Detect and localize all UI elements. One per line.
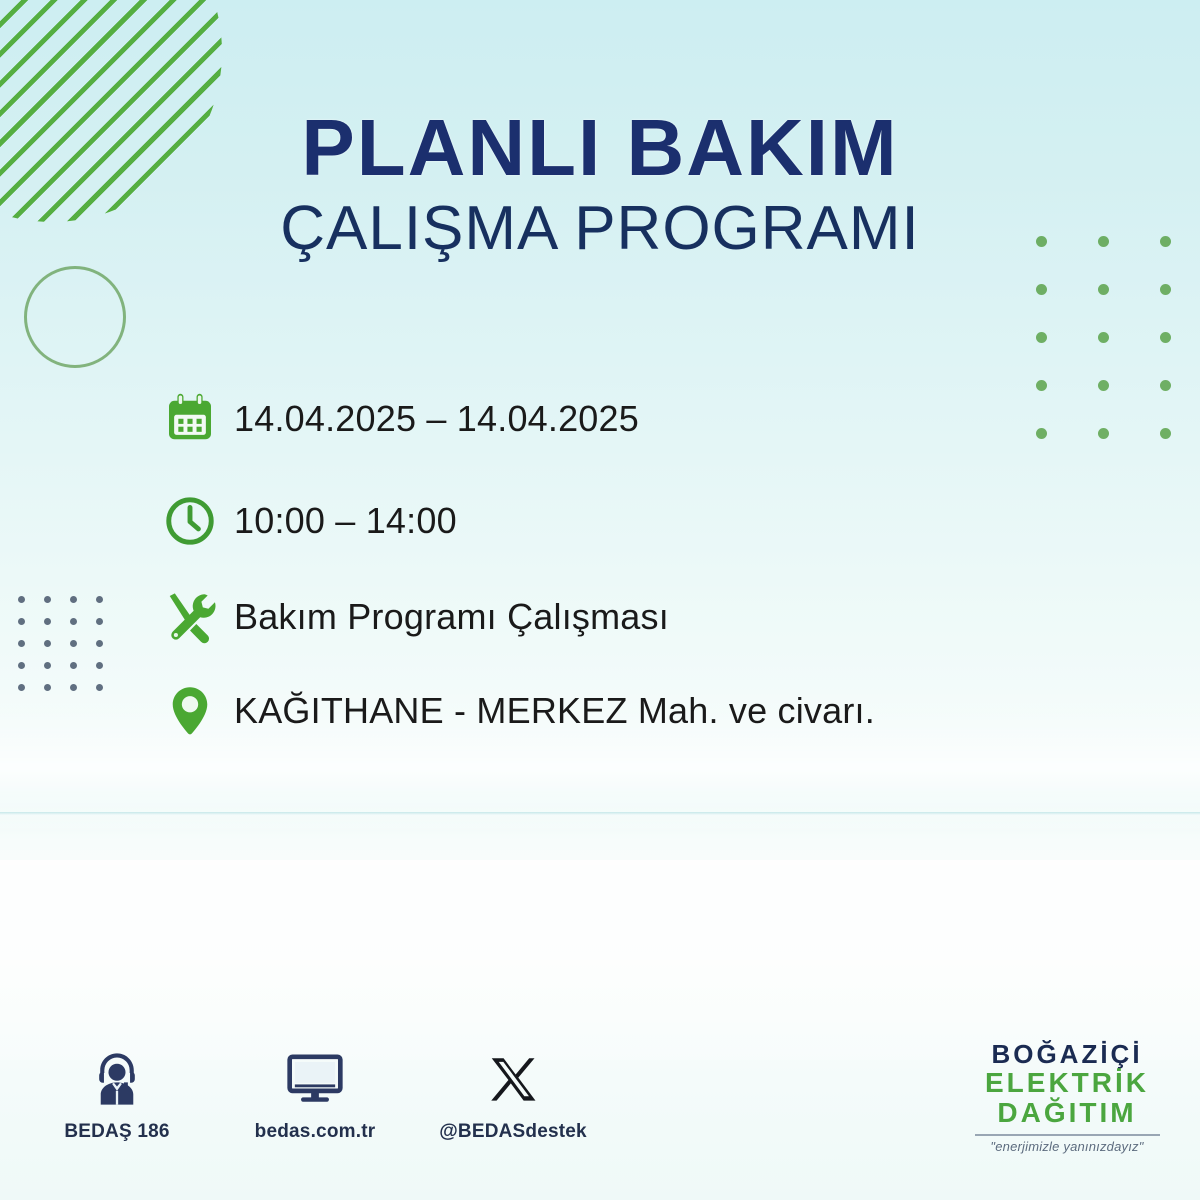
decor-dot [44,640,51,647]
maintenance-work-type: Bakım Programı Çalışması [234,596,669,638]
decor-dot [1098,284,1109,295]
decor-dot [44,684,51,691]
decor-dot [44,596,51,603]
info-row-work-type: Bakım Programı Çalışması [162,574,1112,660]
bedas-logo: BOĞAZİÇİ ELEKTRİK DAĞITIM "enerjimizle y… [962,1040,1172,1154]
decor-dot [96,662,103,669]
contact-website[interactable]: bedas.com.tr [250,1038,380,1143]
circle-outline-decoration [24,266,126,368]
planned-maintenance-poster: PLANLI BAKIM ÇALIŞMA PROGRAMI [0,0,1200,1200]
maintenance-time-range: 10:00 – 14:00 [234,500,457,542]
contact-website-label: bedas.com.tr [255,1121,376,1143]
dot-grid-left-decoration [18,596,122,706]
location-pin-icon [162,675,234,747]
page-title: PLANLI BAKIM [0,108,1200,188]
x-logo-icon [484,1038,542,1110]
footer-contact-list: BEDAŞ 186 bedas.com.tr [52,1038,578,1143]
decor-dot [96,684,103,691]
decor-dot [96,640,103,647]
decor-dot [96,618,103,625]
decor-dot [18,618,25,625]
contact-x-social[interactable]: @BEDASdestek [448,1038,578,1143]
brand-line-elektrik: ELEKTRİK [962,1068,1172,1098]
info-row-location: KAĞITHANE - MERKEZ Mah. ve civarı. [162,668,1112,754]
decor-dot [70,596,77,603]
brand-tagline: "enerjimizle yanınızdayız" [962,1139,1172,1154]
poster-footer: BEDAŞ 186 bedas.com.tr [0,1030,1200,1200]
decor-dot [1160,332,1171,343]
brand-line-dagitim: DAĞITIM [962,1098,1172,1128]
support-agent-icon [86,1038,148,1110]
clock-icon [162,485,234,557]
page-subtitle: ÇALIŞMA PROGRAMI [0,198,1200,260]
decor-dot [70,640,77,647]
decor-dot [96,596,103,603]
tools-icon [162,581,234,653]
maintenance-info-list: 14.04.2025 – 14.04.2025 10:00 – 14:00 [162,376,1112,754]
decor-dot [1160,284,1171,295]
brand-divider [975,1134,1160,1136]
decor-dot [1036,332,1047,343]
decor-dot [44,618,51,625]
maintenance-location: KAĞITHANE - MERKEZ Mah. ve civarı. [234,690,875,732]
decor-dot [70,684,77,691]
brand-line-bogazici: BOĞAZİÇİ [962,1040,1172,1068]
decor-dot [18,684,25,691]
background-horizon-line [0,812,1200,815]
decor-dot [1160,428,1171,439]
calendar-icon [162,383,234,455]
decor-dot [18,640,25,647]
contact-x-label: @BEDASdestek [439,1121,587,1143]
poster-title-block: PLANLI BAKIM ÇALIŞMA PROGRAMI [0,108,1200,260]
decor-dot [70,618,77,625]
decor-dot [18,596,25,603]
info-row-time: 10:00 – 14:00 [162,478,1112,564]
monitor-icon [284,1038,346,1110]
decor-dot [1160,380,1171,391]
decor-dot [1098,332,1109,343]
contact-phone-label: BEDAŞ 186 [64,1121,169,1143]
maintenance-date-range: 14.04.2025 – 14.04.2025 [234,398,639,440]
decor-dot [70,662,77,669]
decor-dot [18,662,25,669]
info-row-date: 14.04.2025 – 14.04.2025 [162,376,1112,462]
decor-dot [44,662,51,669]
decor-dot [1036,284,1047,295]
contact-phone[interactable]: BEDAŞ 186 [52,1038,182,1143]
